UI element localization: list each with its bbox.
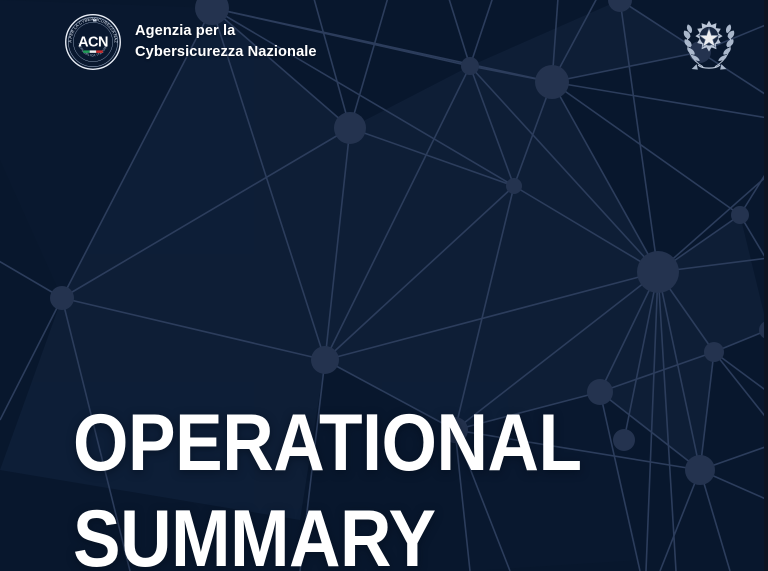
acn-wordmark: Agenzia per la Cybersicurezza Nazionale [135,21,317,63]
page-right-edge [764,0,768,571]
svg-text:ACN: ACN [78,35,108,51]
acn-seal-icon: AGENZIA PER LA CYBERSICUREZZA NAZIONALE … [64,13,122,71]
page-title-line-2: SUMMARY [73,491,582,571]
page-title-line-1: OPERATIONAL [73,395,582,491]
cover-page: AGENZIA PER LA CYBERSICUREZZA NAZIONALE … [0,0,768,571]
acn-wordmark-line-1: Agenzia per la [135,21,317,42]
page-title: OPERATIONAL SUMMARY [73,395,651,571]
italian-republic-emblem-icon [678,12,740,74]
page-header: AGENZIA PER LA CYBERSICUREZZA NAZIONALE … [0,0,768,92]
acn-wordmark-line-2: Cybersicurezza Nazionale [135,42,317,63]
acn-logo-lockup: AGENZIA PER LA CYBERSICUREZZA NAZIONALE … [64,13,317,71]
